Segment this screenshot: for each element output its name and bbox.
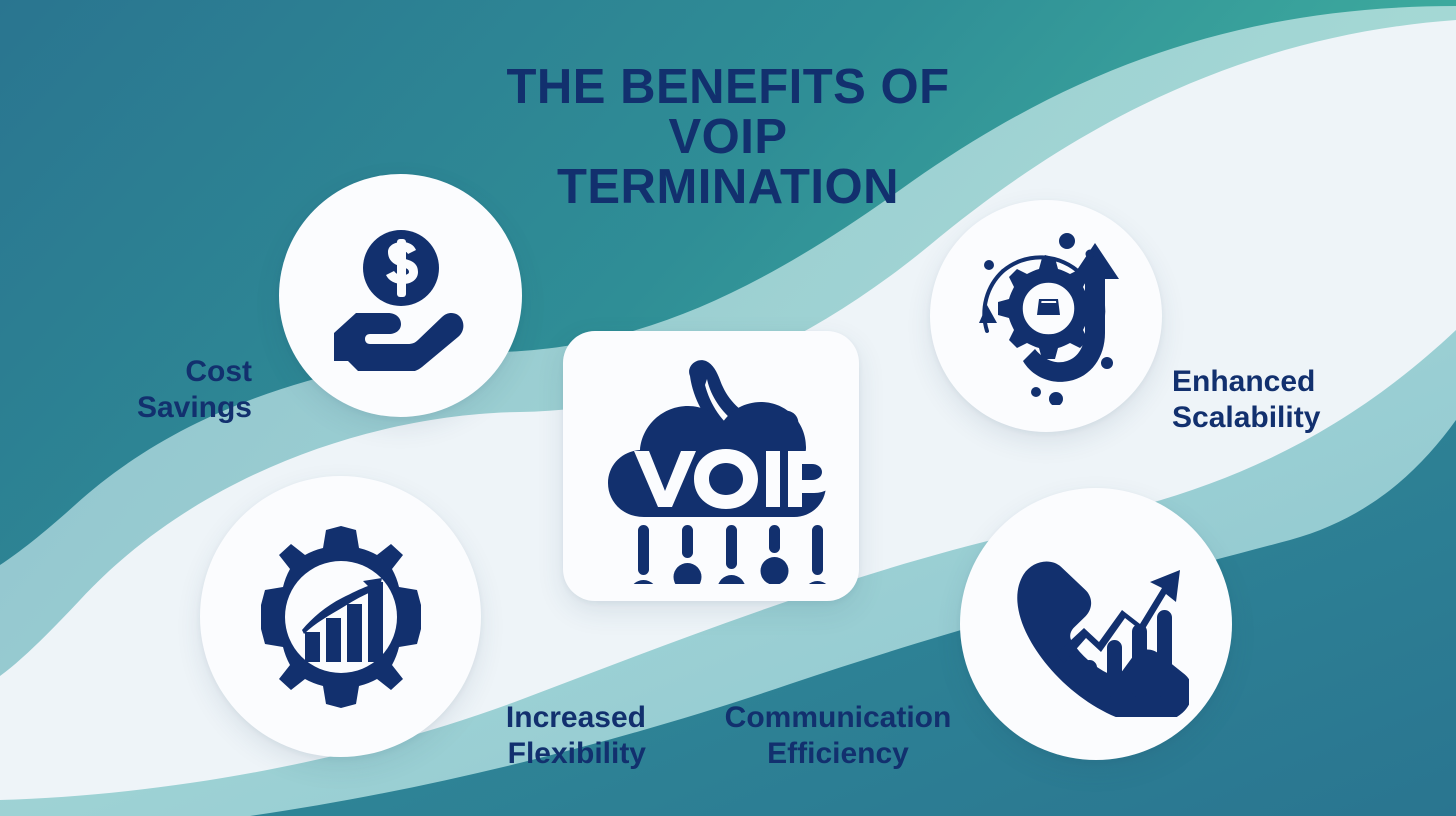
benefit-circle-communication-efficiency[interactable] xyxy=(960,488,1232,760)
title-line-2: VOIP xyxy=(0,112,1456,162)
center-voip-card[interactable] xyxy=(563,331,859,601)
hand-holding-dollar-icon xyxy=(326,221,476,371)
infographic-canvas: THE BENEFITS OF VOIP TERMINATION xyxy=(0,0,1456,816)
phone-growth-chart-icon xyxy=(1004,532,1189,717)
benefit-label-increased-flexibility: Increased Flexibility xyxy=(400,700,646,772)
voip-cloud-icon xyxy=(586,349,836,584)
page-title: THE BENEFITS OF VOIP TERMINATION xyxy=(0,62,1456,212)
benefit-label-communication-efficiency: Communication Efficiency xyxy=(684,700,992,772)
gear-bar-chart-icon xyxy=(246,522,436,712)
benefit-label-enhanced-scalability: Enhanced Scalability xyxy=(1172,364,1438,436)
title-line-1: THE BENEFITS OF xyxy=(0,62,1456,112)
gear-growth-arrow-icon xyxy=(957,227,1135,405)
benefit-circle-enhanced-scalability[interactable] xyxy=(930,200,1162,432)
benefit-label-cost-savings: Cost Savings xyxy=(20,354,252,426)
title-line-3: TERMINATION xyxy=(0,162,1456,212)
